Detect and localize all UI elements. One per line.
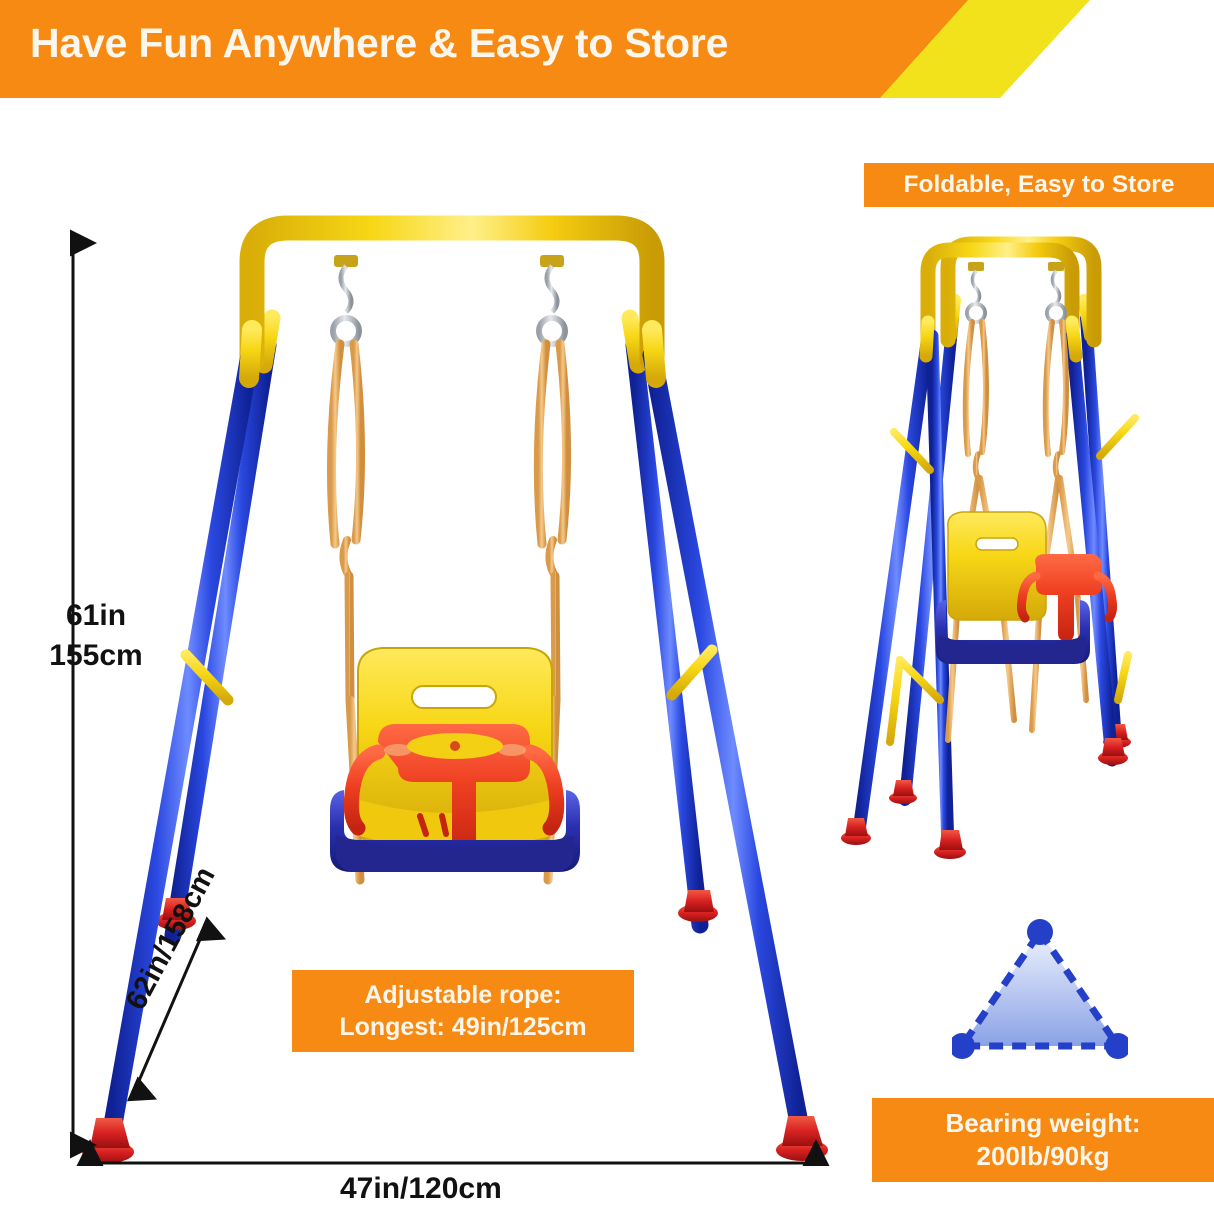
triangle-shape: [962, 932, 1118, 1046]
folded-swing-hardware: [967, 262, 1065, 322]
stability-triangle-diagram: [952, 918, 1128, 1062]
dimension-height-cm: 155cm: [30, 636, 162, 676]
badge-rope-line1: Adjustable rope:: [364, 979, 561, 1011]
badge-foldable-label: Foldable, Easy to Store: [904, 169, 1175, 200]
dimension-height-label: 61in 155cm: [30, 596, 162, 675]
badge-weight-line2: 200lb/90kg: [977, 1140, 1110, 1173]
dimension-width-label: 47in/120cm: [340, 1172, 502, 1206]
main-swing-seat: [330, 648, 580, 872]
badge-foldable: Foldable, Easy to Store: [864, 163, 1214, 207]
folded-swing-set: [841, 244, 1135, 859]
main-frame-top-bar: [252, 228, 652, 360]
badge-adjustable-rope: Adjustable rope: Longest: 49in/125cm: [292, 970, 634, 1052]
main-swing-hardware: [333, 255, 565, 344]
badge-weight-line1: Bearing weight:: [945, 1107, 1140, 1140]
badge-bearing-weight: Bearing weight: 200lb/90kg: [872, 1098, 1214, 1182]
triangle-node-top: [1027, 919, 1053, 945]
badge-rope-line2: Longest: 49in/125cm: [339, 1011, 586, 1043]
dimension-height-inches: 61in: [30, 596, 162, 636]
